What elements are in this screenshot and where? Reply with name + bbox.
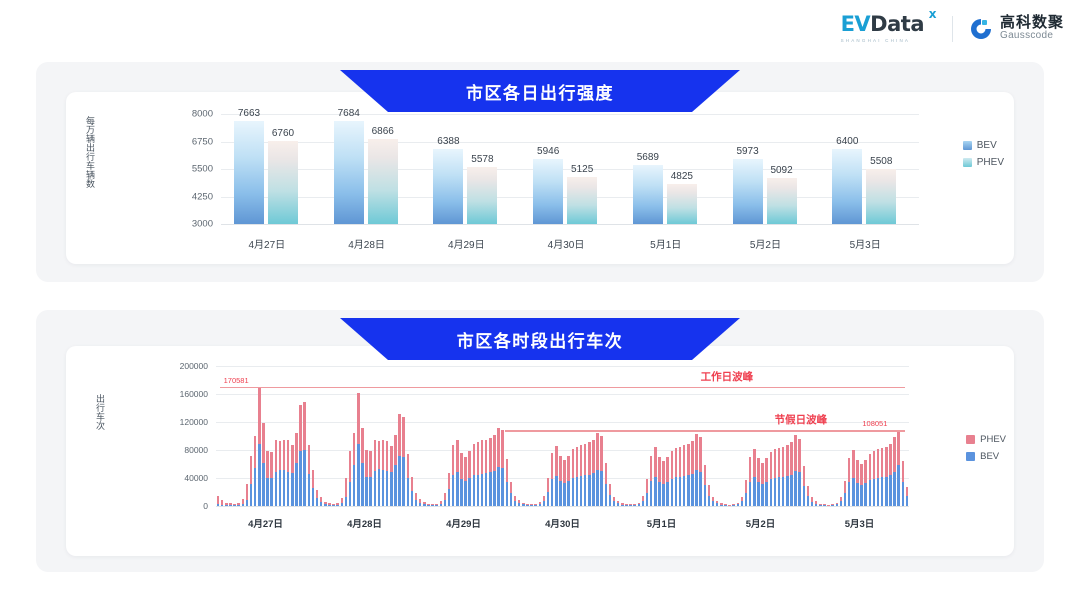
annotation-label: 工作日波峰 [701,369,754,387]
stack-segment-bev [221,505,224,506]
stack-segment-phev [737,503,740,505]
stack-segment-phev [732,504,735,505]
stacked-bar-column[interactable] [906,366,909,506]
stack-segment-phev [444,493,447,499]
stack-segment-phev [299,405,302,451]
stack-segment-phev [840,497,843,502]
stack-segment-bev [844,493,847,506]
bar-bev[interactable] [433,149,463,224]
stack-segment-bev [303,450,306,506]
stack-segment-phev [328,503,331,505]
stack-segment-phev [398,414,401,456]
x-tick-label-1: 5月1日 [650,236,681,251]
stack-segment-bev [584,475,587,506]
stack-segment-bev [588,475,591,507]
stack-segment-phev [237,503,240,505]
section-title-banner-1: 市区各日出行强度 [340,70,740,112]
stack-segment-bev [320,502,323,506]
stack-segment-phev [233,504,236,506]
stack-segment-phev [609,484,612,495]
bar-phev[interactable] [268,141,298,224]
stack-segment-bev [534,505,537,506]
stack-segment-bev [790,475,793,507]
x-tick-label-2: 4月27日 [248,516,283,530]
stack-segment-phev [666,457,669,482]
stack-segment-bev [881,477,884,506]
stack-segment-bev [237,505,240,506]
stack-segment-bev [683,476,686,506]
bar-group: 76846866 [321,114,421,224]
stack-segment-bev [258,444,261,506]
stack-segment-bev [666,482,669,507]
stack-segment-phev [312,470,315,488]
x-tick-label-2: 5月2日 [746,516,776,530]
stack-segment-phev [308,445,311,474]
bar-phev[interactable] [866,169,896,224]
stack-segment-phev [774,449,777,478]
stack-segment-phev [386,441,389,471]
stack-segment-phev [275,440,278,472]
bar-bev[interactable] [832,149,862,224]
stack-segment-phev [394,435,397,466]
bar-group: 59735092 [720,114,820,224]
stack-segment-phev [778,448,781,477]
stack-segment-bev [798,472,801,506]
stack-segment-phev [419,499,422,503]
stack-segment-phev [869,454,872,481]
stack-segment-bev [526,505,529,506]
stack-segment-bev [600,471,603,506]
stack-segment-bev [407,478,410,506]
stack-segment-bev [419,503,422,507]
stack-segment-bev [687,475,690,506]
stack-segment-phev [539,502,542,504]
stack-segment-bev [506,482,509,506]
chart-card-1: 每万辆出行车辆数76636760768468666388557859465125… [66,92,1014,264]
stack-segment-phev [460,453,463,479]
stack-segment-bev [336,505,339,506]
stack-segment-bev [365,477,368,506]
stack-segment-bev [827,505,830,506]
stack-segment-phev [510,482,513,494]
stack-segment-bev [353,465,356,506]
section-title-2: 市区各时段出行车次 [457,327,624,352]
legend-label: BEV [977,140,997,151]
stack-segment-bev [902,482,905,507]
stack-segment-phev [596,433,599,470]
stack-segment-bev [299,451,302,506]
stack-segment-phev [782,447,785,477]
stack-segment-phev [749,457,752,482]
stack-segment-bev [753,477,756,506]
x-tick-label-1: 4月28日 [348,236,385,251]
stack-segment-phev [324,502,327,504]
bar-phev[interactable] [467,167,497,224]
bar-phev[interactable] [567,177,597,224]
stack-segment-phev [217,496,220,504]
stack-segment-phev [765,458,768,482]
legend-1: BEVPHEV [963,140,1004,174]
stack-segment-phev [629,504,632,505]
stack-segment-bev [308,474,311,506]
stack-segment-bev [530,505,533,506]
stack-segment-bev [650,481,653,506]
bar-group: 56894825 [620,114,720,224]
stack-segment-bev [324,504,327,506]
stack-segment-phev [831,504,834,505]
stack-segment-bev [617,503,620,506]
stack-segment-phev [864,460,867,483]
bar-bev[interactable] [733,159,763,224]
stack-segment-bev [415,500,418,506]
stack-segment-phev [563,460,566,483]
stack-segment-phev [827,505,830,506]
bar-group: 64005508 [819,114,919,224]
stack-segment-bev [831,505,834,506]
x-tick-label-2: 5月1日 [647,516,677,530]
evdata-superscript-x: x [929,8,936,20]
y-tick-label-1: 3000 [167,219,213,230]
stack-segment-phev [559,456,562,481]
stack-segment-phev [704,465,707,485]
stack-segment-phev [646,479,649,492]
stack-segment-bev [464,481,467,506]
stack-segment-phev [320,497,323,502]
stack-segment-phev [440,501,443,503]
stack-segment-phev [658,457,661,482]
stack-segment-bev [889,475,892,506]
stack-segment-phev [291,445,294,473]
stack-segment-phev [522,503,525,505]
legend-item-phev[interactable]: PHEV [966,434,1006,445]
stack-segment-bev [856,483,859,506]
legend-2: PHEVBEV [966,434,1006,468]
stack-segment-bev [869,480,872,506]
stack-segment-bev [625,505,628,506]
stack-segment-bev [741,501,744,506]
stack-segment-bev [819,505,822,506]
stack-segment-phev [584,444,587,476]
stack-segment-bev [836,504,839,506]
logo-divider [952,16,953,42]
stack-segment-bev [737,504,740,506]
x-tick-label-1: 4月27日 [249,236,286,251]
stack-segment-bev [394,465,397,506]
stack-segment-bev [708,496,711,507]
stack-segment-phev [378,441,381,469]
stack-segment-phev [287,440,290,472]
stack-segment-bev [460,479,463,506]
stack-segment-phev [246,484,249,499]
stack-segment-phev [823,504,826,505]
stack-segment-phev [543,496,546,501]
stack-segment-phev [897,430,900,465]
stack-segment-bev [576,477,579,506]
hourly-trip-count-chart: 出行车次工作日波峰170581节假日波峰10805104000080000120… [66,346,1014,556]
stack-segment-bev [266,478,269,506]
bar-group: 63885578 [420,114,520,224]
stack-segment-bev [629,505,632,506]
stack-segment-phev [427,504,430,505]
x-tick-label-1: 4月30日 [548,236,585,251]
stack-segment-bev [873,479,876,506]
stack-segment-phev [600,436,603,471]
annotation-label: 节假日波峰 [775,412,828,430]
stack-segment-phev [345,478,348,497]
stack-segment-phev [877,449,880,478]
stack-segment-phev [852,450,855,478]
stack-segment-bev [897,465,900,506]
stack-segment-bev [567,481,570,506]
stack-segment-phev [770,452,773,479]
stack-segment-phev [518,500,521,503]
stack-segment-bev [580,476,583,506]
stack-segment-phev [712,497,715,501]
x-tick-label-1: 5月2日 [750,236,781,251]
stack-segment-bev [312,488,315,506]
annotation-value: 108051 [862,419,887,430]
annotation-value: 170581 [224,376,249,387]
evdata-logo: EVDatax SHANGHAI CHINA [841,14,936,43]
stack-segment-phev [390,446,393,473]
evdata-data-text: Data [870,12,924,36]
stack-segment-phev [374,440,377,472]
bar-bev[interactable] [334,121,364,224]
stack-segment-bev [543,501,546,506]
stack-segment-bev [539,504,542,506]
stack-segment-bev [382,470,385,506]
stack-segment-phev [856,460,859,483]
stack-segment-bev [440,504,443,506]
stack-segment-phev [229,503,232,505]
stack-segment-bev [675,477,678,506]
y-tick-label-2: 120000 [160,417,208,427]
legend-item-bev[interactable]: BEV [963,140,1004,151]
stack-segment-bev [341,503,344,506]
stack-segment-bev [823,505,826,506]
page-root: EVDatax SHANGHAI CHINA 高科数聚 Gausscode 市区… [0,0,1080,608]
stack-segment-bev [448,489,451,506]
stack-segment-phev [332,504,335,505]
stack-segment-bev [646,493,649,506]
stack-segment-bev [642,501,645,506]
stack-segment-bev [770,479,773,506]
stack-segment-phev [654,447,657,476]
y-tick-label-1: 8000 [167,109,213,120]
stack-segment-bev [229,505,232,506]
y-axis-label-1: 每万辆出行车辆数 [84,116,97,226]
stack-segment-phev [547,478,550,492]
bar-value-label: 6866 [372,126,394,139]
y-tick-label-1: 4250 [167,191,213,202]
stack-segment-phev [741,497,744,502]
annotation-line [220,387,905,388]
stack-segment-bev [840,501,843,506]
stack-segment-phev [671,451,674,479]
stack-segment-bev [906,496,909,506]
stack-segment-bev [815,504,818,506]
stack-segment-bev [473,475,476,506]
stack-segment-bev [254,468,257,506]
stack-segment-bev [246,500,249,506]
stacked-bar-column[interactable] [217,366,220,506]
stack-segment-phev [497,428,500,467]
y-axis-label-2: 出行车次 [94,394,107,464]
stack-segment-bev [250,484,253,506]
stack-segment-phev [790,442,793,474]
gausscode-en: Gausscode [1000,31,1064,42]
stack-segment-phev [902,461,905,482]
bar-bev[interactable] [633,165,663,224]
stack-segment-bev [456,472,459,506]
stack-segment-bev [592,473,595,506]
stack-segment-bev [757,482,760,506]
stack-segment-phev [695,434,698,470]
stack-segment-phev [514,496,517,501]
stack-segment-phev [402,417,405,457]
stack-segment-bev [225,505,228,506]
stack-segment-phev [906,487,909,496]
stack-segment-phev [295,433,298,463]
stack-segment-bev [357,444,360,506]
stack-segment-phev [815,501,818,503]
stack-segment-phev [336,503,339,505]
stack-segment-bev [596,470,599,506]
stack-segment-phev [885,447,888,477]
y-tick-label-2: 200000 [160,361,208,371]
stack-segment-phev [605,463,608,484]
stack-segment-bev [489,472,492,506]
stack-segment-phev [489,438,492,472]
stack-segment-phev [283,440,286,470]
stack-segment-bev [732,505,735,506]
stack-segment-bev [233,505,236,506]
stack-segment-bev [435,505,438,506]
bar-value-label: 5508 [870,156,892,169]
bar-bev[interactable] [533,159,563,224]
stack-segment-phev [530,504,533,505]
stack-segment-phev [873,451,876,479]
stack-segment-bev [485,473,488,506]
stack-segment-phev [382,440,385,469]
gridline-1 [221,224,919,225]
stack-segment-phev [753,449,756,478]
stack-segment-phev [633,504,636,505]
stack-segment-bev [749,482,752,507]
bar-phev[interactable] [667,184,697,224]
stack-segment-bev [852,478,855,506]
legend-label: PHEV [980,434,1006,445]
stack-segment-phev [844,481,847,494]
stack-segment-phev [613,497,616,502]
x-tick-label-2: 4月29日 [446,516,481,530]
stack-segment-phev [477,442,480,475]
stack-segment-phev [452,445,455,475]
stack-segment-phev [811,497,814,501]
stack-segment-bev [217,504,220,506]
stack-segment-phev [501,430,504,467]
stack-segment-phev [266,451,269,478]
stack-segment-bev [493,471,496,506]
stack-segment-bev [699,472,702,506]
stack-segment-phev [341,498,344,504]
bar-bev[interactable] [234,121,264,224]
stack-segment-phev [798,439,801,473]
bar-phev[interactable] [368,139,398,224]
stack-segment-phev [493,435,496,471]
stack-segment-phev [592,440,595,474]
stack-segment-phev [720,503,723,504]
stack-segment-bev [328,505,331,506]
stack-segment-phev [258,387,261,444]
stack-segment-phev [848,458,851,482]
stack-segment-phev [819,504,822,505]
stack-segment-phev [551,453,554,480]
stack-segment-bev [295,463,298,506]
bar-value-label: 4825 [671,171,693,184]
bar-value-label: 6388 [437,136,459,149]
stack-segment-phev [361,428,364,464]
y-tick-label-1: 6750 [167,136,213,147]
stack-segment-phev [881,448,884,477]
stack-segment-bev [444,500,447,506]
stack-segment-bev [559,481,562,506]
legend-item-phev[interactable]: PHEV [963,157,1004,168]
stack-segment-phev [435,504,438,505]
gausscode-logo: 高科数聚 Gausscode [969,15,1064,41]
stack-segment-bev [864,483,867,506]
stack-segment-phev [534,504,537,505]
stack-segment-bev [390,472,393,506]
stack-segment-bev [679,477,682,506]
bar-value-label: 7684 [338,108,360,121]
y-tick-label-1: 5500 [167,164,213,175]
legend-swatch-icon [963,158,972,167]
stack-segment-bev [633,505,636,506]
stack-segment-phev [225,503,228,506]
x-tick-label-2: 4月30日 [545,516,580,530]
stack-segment-bev [761,484,764,506]
stack-segment-bev [728,505,731,506]
stack-segment-bev [398,456,401,506]
stack-segment-phev [745,480,748,493]
stack-segment-phev [650,456,653,481]
bar-value-label: 6400 [836,136,858,149]
stack-segment-phev [464,457,467,481]
stack-segment-bev [782,477,785,506]
stack-segment-bev [704,485,707,506]
bar-value-label: 5973 [736,146,758,159]
stack-segment-bev [794,471,797,506]
stack-segment-phev [786,445,789,476]
legend-label: BEV [980,451,999,462]
stack-segment-bev [716,503,719,506]
stack-segment-bev [270,478,273,506]
stack-segment-phev [262,423,265,463]
evdata-tagline: SHANGHAI CHINA [841,38,911,43]
stack-segment-bev [613,501,616,506]
stack-segment-bev [605,484,608,506]
stack-segment-phev [728,505,731,506]
bar-value-label: 7663 [238,108,260,121]
section-title-1: 市区各日出行强度 [466,79,614,104]
stack-segment-bev [654,477,657,506]
stack-segment-bev [621,505,624,506]
bar-phev[interactable] [767,178,797,224]
plot-area-2: 工作日波峰170581节假日波峰108051 [216,366,909,506]
stack-segment-bev [807,496,810,506]
legend-item-bev[interactable]: BEV [966,451,1006,462]
